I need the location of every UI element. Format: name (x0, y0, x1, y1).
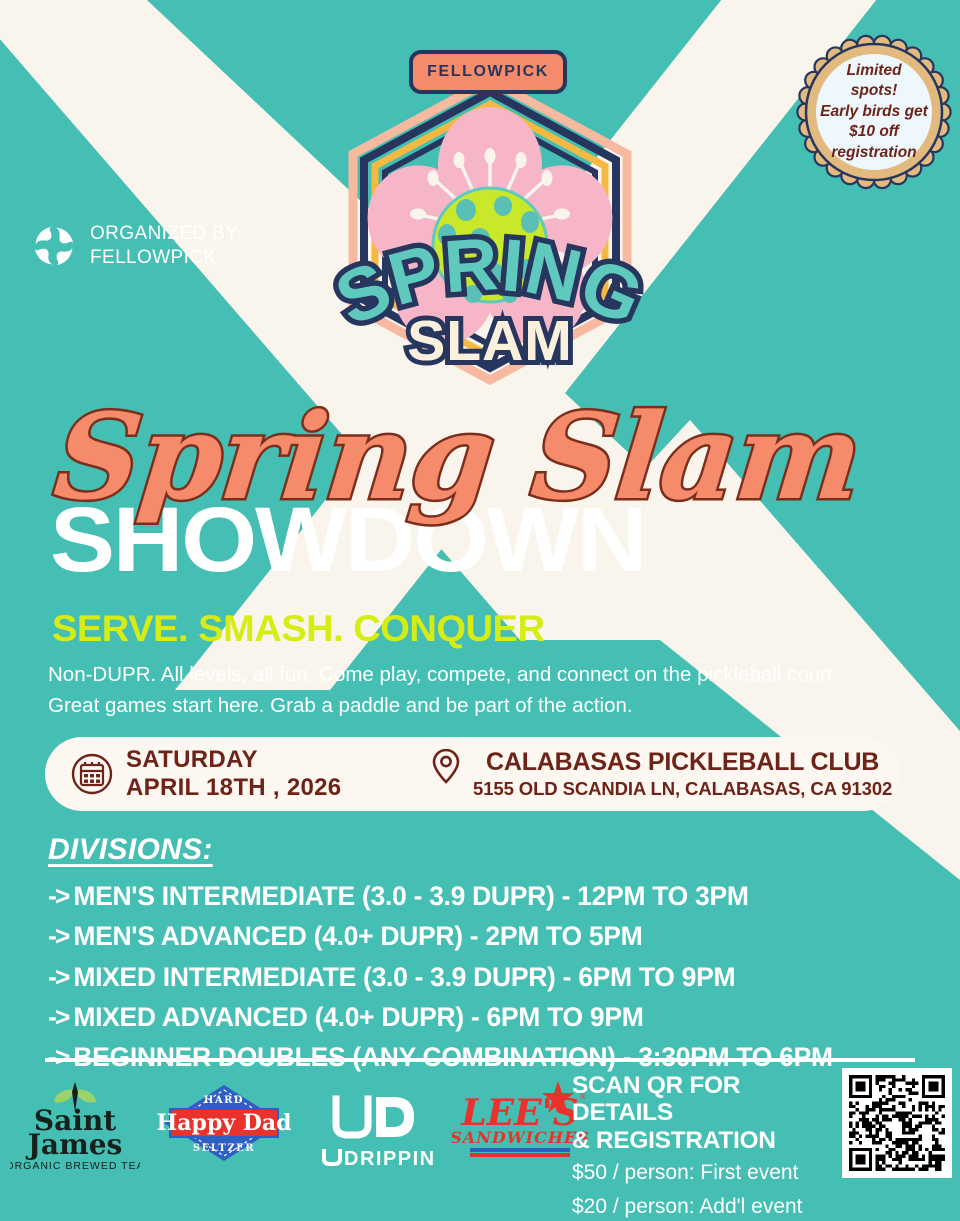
sponsor-logo-lees-sandwiches: LEE'S SANDWICHES ® (452, 1073, 592, 1173)
arrow-icon: -> (48, 881, 68, 911)
sponsor-happy-dad-top: HARD (204, 1095, 244, 1106)
sponsor-lees-sub: SANDWICHES (452, 1128, 590, 1147)
registration-head-1: SCAN QR FOR DETAILS (572, 1072, 828, 1127)
venue-address: 5155 OLD SCANDIA LN, CALABASAS, CA 91302 (473, 777, 892, 802)
sponsor-logo-saint-james: Saint James ORGANIC BREWED TEA (10, 1068, 140, 1178)
registration-block: SCAN QR FOR DETAILS & REGISTRATION $50 /… (572, 1068, 952, 1221)
sponsor-saint-james-line2: James (25, 1128, 123, 1161)
sponsor-logos: Saint James ORGANIC BREWED TEA HARD Happ… (10, 1068, 592, 1178)
divisions-heading: DIVISIONS: (48, 833, 928, 867)
sponsor-logo-happy-dad: HARD Happy Dad SELTZER (150, 1073, 298, 1173)
venue-name: CALABASAS PICKLEBALL CLUB (473, 747, 892, 777)
division-label: MEN'S INTERMEDIATE (3.0 - 3.9 DUPR) - 12… (73, 881, 748, 911)
logo-word-slam: SLAM SLAM (407, 309, 572, 373)
registration-head-2: & REGISTRATION (572, 1127, 828, 1154)
fellowpick-brand-label: FELLOWPICK (427, 63, 549, 81)
division-label: MIXED INTERMEDIATE (3.0 - 3.9 DUPR) - 6P… (73, 962, 735, 992)
footer-section: Saint James ORGANIC BREWED TEA HARD Happ… (0, 1068, 960, 1200)
promo-line-4: $10 off (849, 122, 899, 142)
registration-price-1: $50 / person: First event (572, 1158, 828, 1187)
fellowpick-brand-pill: FELLOWPICK (409, 50, 567, 94)
arrow-icon: -> (48, 1002, 68, 1032)
division-row: ->MIXED ADVANCED (4.0+ DUPR) - 6PM TO 9P… (48, 997, 928, 1037)
registration-price-2: $20 / person: Add'l event (572, 1192, 828, 1221)
description-text: Non-DUPR. All levels, all fun. Come play… (48, 660, 888, 722)
sponsor-logo-udrippin: DRIPPIN (312, 1073, 444, 1173)
event-date-group: SATURDAY APRIL 18TH , 2026 (71, 746, 431, 802)
spring-slam-logo-badge: SPRING SPRING SLAM SLAM (320, 70, 660, 390)
location-pin-icon (431, 747, 461, 785)
organizer-name: FELLOWPICK (90, 246, 243, 270)
shutter-logo-icon (32, 224, 76, 268)
promo-line-1: Limited (846, 61, 901, 81)
organizer-label: ORGANIZED BY: (90, 222, 243, 246)
arrow-icon: -> (48, 921, 68, 951)
promo-line-3: Early birds get (820, 102, 928, 122)
arrow-icon: -> (48, 962, 68, 992)
division-label: MEN'S ADVANCED (4.0+ DUPR) - 2PM TO 5PM (73, 921, 642, 951)
sponsor-saint-james-tagline: ORGANIC BREWED TEA (10, 1160, 140, 1172)
division-row: ->MEN'S ADVANCED (4.0+ DUPR) - 2PM TO 5P… (48, 916, 928, 956)
event-date: APRIL 18TH , 2026 (126, 774, 341, 802)
qr-code-icon[interactable] (842, 1068, 952, 1178)
organizer-credit: ORGANIZED BY: FELLOWPICK (32, 222, 243, 270)
headline-script: Spring Slam (50, 398, 867, 516)
promo-line-5: registration (831, 143, 916, 163)
event-day: SATURDAY (126, 746, 341, 774)
event-venue-group: CALABASAS PICKLEBALL CLUB 5155 OLD SCAND… (431, 747, 892, 802)
tagline: SERVE. SMASH. CONQUER (52, 608, 544, 650)
promo-line-2: spots! (851, 81, 898, 101)
sponsor-happy-dad-bottom: SELTZER (193, 1143, 255, 1154)
calendar-icon (71, 753, 113, 795)
division-row: ->MEN'S INTERMEDIATE (3.0 - 3.9 DUPR) - … (48, 876, 928, 916)
divisions-section: DIVISIONS: ->MEN'S INTERMEDIATE (3.0 - 3… (48, 833, 928, 1077)
footer-divider (45, 1058, 915, 1062)
sponsor-udrippin-label: DRIPPIN (344, 1148, 436, 1170)
sponsor-happy-dad-main: Happy Dad (157, 1110, 292, 1136)
division-row: ->MIXED INTERMEDIATE (3.0 - 3.9 DUPR) - … (48, 957, 928, 997)
event-info-bar: SATURDAY APRIL 18TH , 2026 CALABASAS PIC… (45, 737, 900, 811)
svg-text:SLAM: SLAM (407, 309, 572, 373)
division-label: MIXED ADVANCED (4.0+ DUPR) - 6PM TO 9PM (73, 1002, 643, 1032)
promo-badge: Limited spots! Early birds get $10 off r… (795, 33, 953, 191)
